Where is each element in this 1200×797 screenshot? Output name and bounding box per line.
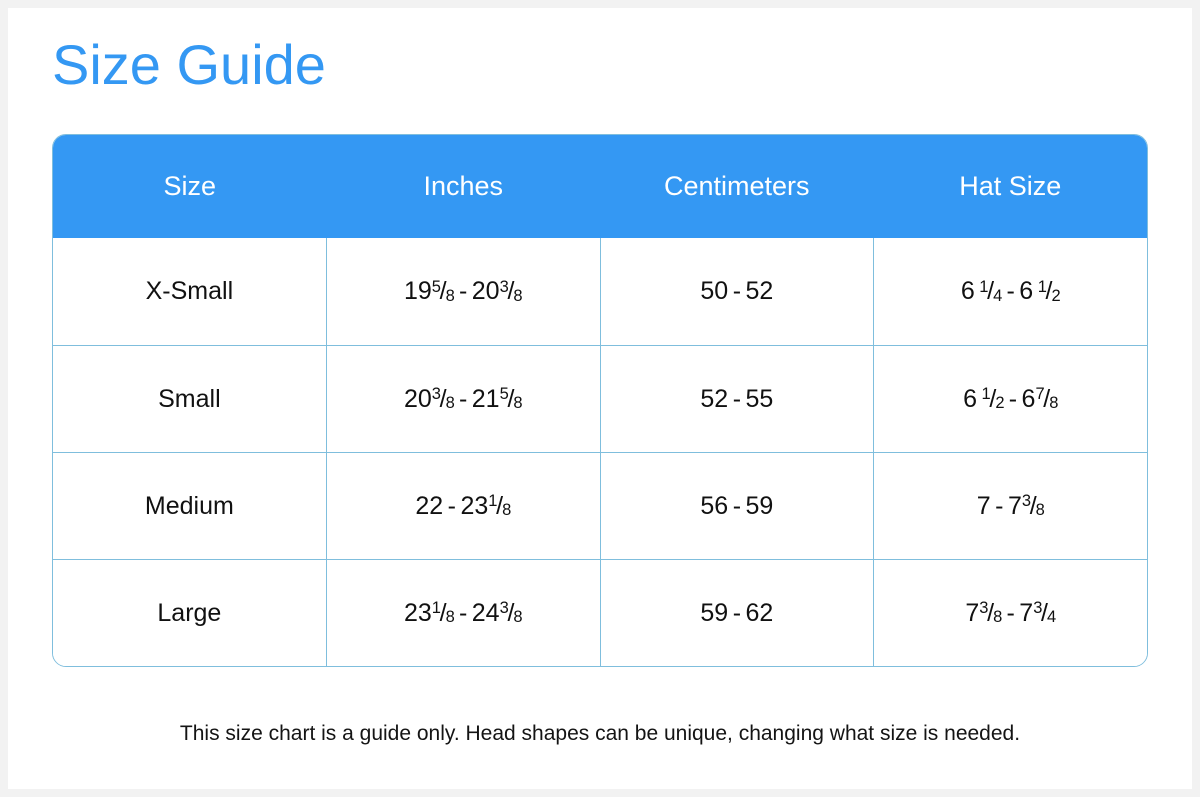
cell-inches: 195/8-203/8: [326, 238, 600, 345]
cell-size: Small: [53, 346, 326, 452]
column-header-size: Size: [53, 135, 327, 238]
cell-hat-size: 7-73/8: [873, 453, 1147, 559]
cell-hat-size: 61/2-67/8: [873, 346, 1147, 452]
table-header-row: Size Inches Centimeters Hat Size: [53, 135, 1147, 238]
cell-hat-size: 61/4-61/2: [873, 238, 1147, 345]
cell-centimeters: 50-52: [600, 238, 874, 345]
size-guide-table: Size Inches Centimeters Hat Size X-Small…: [52, 134, 1148, 667]
cell-inches: 203/8-215/8: [326, 346, 600, 452]
page-title: Size Guide: [52, 36, 326, 95]
table-body: X-Small195/8-203/850-5261/4-61/2Small203…: [53, 238, 1147, 666]
cell-inches: 22-231/8: [326, 453, 600, 559]
cell-inches: 231/8-243/8: [326, 560, 600, 666]
size-guide-card: Size Guide Size Inches Centimeters Hat S…: [8, 8, 1192, 789]
column-header-centimeters: Centimeters: [600, 135, 874, 238]
cell-size: Large: [53, 560, 326, 666]
cell-size: Medium: [53, 453, 326, 559]
size-chart-disclaimer: This size chart is a guide only. Head sh…: [8, 721, 1192, 746]
table-row: Large231/8-243/859-6273/8-73/4: [53, 559, 1147, 666]
cell-centimeters: 59-62: [600, 560, 874, 666]
cell-hat-size: 73/8-73/4: [873, 560, 1147, 666]
table-row: X-Small195/8-203/850-5261/4-61/2: [53, 238, 1147, 345]
cell-size: X-Small: [53, 238, 326, 345]
column-header-inches: Inches: [327, 135, 601, 238]
cell-centimeters: 52-55: [600, 346, 874, 452]
table-row: Medium22-231/856-597-73/8: [53, 452, 1147, 559]
cell-centimeters: 56-59: [600, 453, 874, 559]
table-row: Small203/8-215/852-5561/2-67/8: [53, 345, 1147, 452]
column-header-hat-size: Hat Size: [874, 135, 1148, 238]
